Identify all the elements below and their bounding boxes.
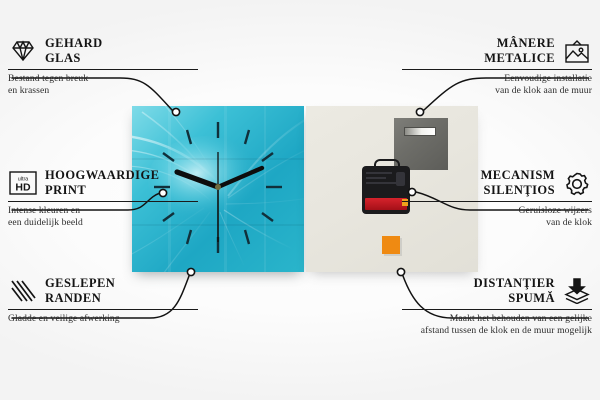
mechanism-detail — [366, 170, 406, 192]
product-infographic: GEHARD GLAS Bestand tegen breuk en krass… — [0, 0, 600, 400]
ultra-hd-icon: ultra HD — [8, 168, 38, 198]
feature-gehard-glas: GEHARD GLAS Bestand tegen breuk en krass… — [8, 36, 198, 98]
feature-header: MECANISM SILENŢIOS — [402, 168, 592, 198]
title-line-2: SPUMĂ — [474, 291, 555, 306]
desc-line-2: een duidelijk beeld — [8, 217, 198, 229]
feature-header: GESLEPEN RANDEN — [8, 276, 198, 306]
feature-description: Intense kleuren en een duidelijk beeld — [8, 205, 198, 230]
divider — [402, 69, 592, 70]
feature-title: GESLEPEN RANDEN — [45, 276, 115, 306]
bevelled-edges-icon — [8, 276, 38, 306]
feature-header: ultra HD HOOGWAARDIGE PRINT — [8, 168, 198, 198]
desc-line-2: van de klok aan de muur — [402, 85, 592, 97]
divider — [402, 201, 592, 202]
feature-title: MÂNERE METALICE — [484, 36, 555, 66]
feature-header: MÂNERE METALICE — [402, 36, 592, 66]
feature-mecanism-silentios: MECANISM SILENŢIOS Geruisloze wijzers va… — [402, 168, 592, 230]
title-line-2: GLAS — [45, 51, 103, 66]
title-line-1: GEHARD — [45, 36, 103, 51]
feature-manere-metalice: MÂNERE METALICE Eenvoudige installatie v… — [402, 36, 592, 98]
divider — [402, 309, 592, 310]
desc-line-2: afstand tussen de klok en de muur mogeli… — [377, 325, 592, 337]
feature-title: DISTANŢIER SPUMĂ — [474, 276, 555, 306]
title-line-1: MÂNERE — [484, 36, 555, 51]
desc-line-1: Eenvoudige installatie — [402, 73, 592, 85]
divider — [8, 309, 198, 310]
feature-hoogwaardige-print: ultra HD HOOGWAARDIGE PRINT Intense kleu… — [8, 168, 198, 230]
desc-line-2: en krassen — [8, 85, 198, 97]
spacer-foam-icon — [562, 276, 592, 306]
feature-description: Gladde en veilige afwerking — [8, 313, 198, 325]
feature-description: Geruisloze wijzers van de klok — [402, 205, 592, 230]
feature-title: GEHARD GLAS — [45, 36, 103, 66]
title-line-2: METALICE — [484, 51, 555, 66]
svg-text:HD: HD — [15, 182, 31, 194]
divider — [8, 201, 198, 202]
desc-line-1: Gladde en veilige afwerking — [8, 313, 198, 325]
desc-line-1: Maakt het behouden van een gelijke — [377, 313, 592, 325]
title-line-2: RANDEN — [45, 291, 115, 306]
feature-geslepen-randen: GESLEPEN RANDEN Gladde en veilige afwerk… — [8, 276, 198, 325]
feature-description: Eenvoudige installatie van de klok aan d… — [402, 73, 592, 98]
feature-title: HOOGWAARDIGE PRINT — [45, 168, 159, 198]
title-line-2: SILENŢIOS — [481, 183, 555, 198]
desc-line-1: Geruisloze wijzers — [402, 205, 592, 217]
battery — [365, 198, 407, 210]
feature-description: Maakt het behouden van een gelijke afsta… — [377, 313, 592, 338]
divider — [8, 69, 198, 70]
title-line-1: GESLEPEN — [45, 276, 115, 291]
feature-header: DISTANŢIER SPUMĂ — [402, 276, 592, 306]
feature-title: MECANISM SILENŢIOS — [481, 168, 555, 198]
diamond-icon — [8, 36, 38, 66]
desc-line-2: van de klok — [402, 217, 592, 229]
gear-icon — [562, 168, 592, 198]
title-line-2: PRINT — [45, 183, 159, 198]
desc-line-1: Bestand tegen breuk — [8, 73, 198, 85]
hanger-slot — [404, 127, 436, 136]
picture-hanger-icon — [562, 36, 592, 66]
title-line-1: HOOGWAARDIGE — [45, 168, 159, 183]
title-line-1: DISTANŢIER — [474, 276, 555, 291]
desc-line-1: Intense kleuren en — [8, 205, 198, 217]
feature-description: Bestand tegen breuk en krassen — [8, 73, 198, 98]
metal-hanger-plate — [394, 118, 448, 170]
feature-header: GEHARD GLAS — [8, 36, 198, 66]
foam-spacer — [382, 236, 400, 254]
feature-distantier-spuma: DISTANŢIER SPUMĂ Maakt het behouden van … — [402, 276, 592, 338]
title-line-1: MECANISM — [481, 168, 555, 183]
